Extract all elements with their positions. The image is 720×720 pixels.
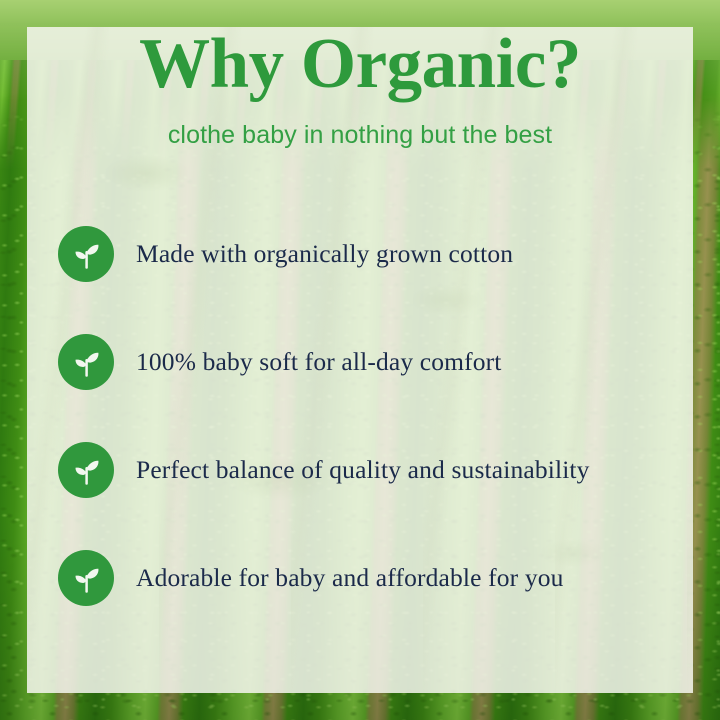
sprout-icon [58, 334, 114, 390]
sprout-icon [58, 226, 114, 282]
page-title: Why Organic? [0, 28, 720, 100]
list-item-label: 100% baby soft for all-day comfort [136, 347, 502, 377]
organic-promo-poster: Why Organic? clothe baby in nothing but … [0, 0, 720, 720]
list-item: Perfect balance of quality and sustainab… [58, 416, 690, 524]
poster-content: Why Organic? clothe baby in nothing but … [0, 0, 720, 720]
sprout-icon [58, 550, 114, 606]
list-item-label: Adorable for baby and affordable for you [136, 563, 564, 593]
page-subtitle: clothe baby in nothing but the best [0, 121, 720, 150]
feature-list: Made with organically grown cotton 100% … [58, 200, 690, 632]
list-item: Adorable for baby and affordable for you [58, 524, 690, 632]
list-item: Made with organically grown cotton [58, 200, 690, 308]
list-item-label: Made with organically grown cotton [136, 239, 513, 269]
list-item: 100% baby soft for all-day comfort [58, 308, 690, 416]
sprout-icon [58, 442, 114, 498]
list-item-label: Perfect balance of quality and sustainab… [136, 455, 590, 485]
